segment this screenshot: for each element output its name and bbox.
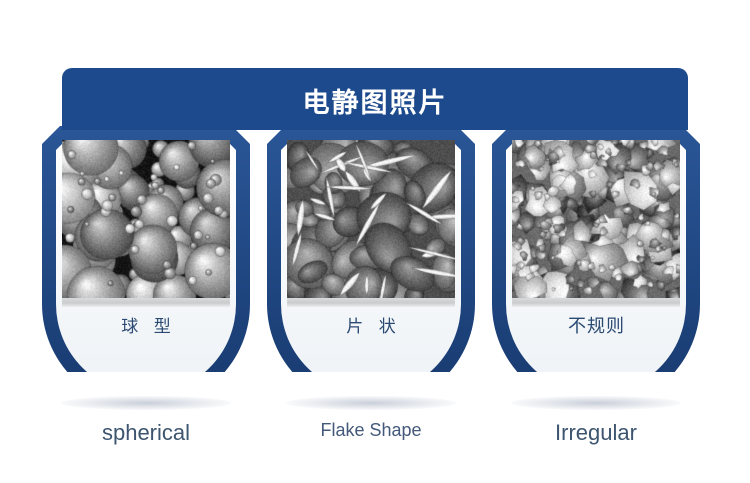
card-label-cn-flake: 片 状	[267, 312, 475, 337]
card-label-cn-irregular: 不规则	[492, 312, 700, 338]
card-label-cn-spherical: 球 型	[42, 312, 250, 337]
sem-photo-irregular	[512, 140, 680, 298]
caption-en-irregular: Irregular	[481, 420, 711, 446]
card-irregular[interactable]: 不规则	[492, 126, 700, 372]
photo-ledge	[287, 298, 455, 307]
caption-en-spherical: spherical	[31, 420, 261, 446]
card-spherical[interactable]: 球 型	[42, 126, 250, 372]
page-title: 电静图照片	[62, 81, 688, 120]
header-banner: 电静图照片	[62, 68, 688, 130]
infographic-stage: 电静图照片	[0, 0, 750, 483]
photo-ledge	[62, 298, 230, 307]
caption-en-flake: Flake Shape	[256, 420, 486, 441]
card-shadow-spherical	[61, 396, 231, 410]
sem-photo-spherical	[62, 140, 230, 298]
card-flake[interactable]: 片 状	[267, 126, 475, 372]
card-shadow-irregular	[511, 396, 681, 410]
photo-ledge	[512, 298, 680, 307]
card-shadow-flake	[286, 396, 456, 410]
sem-photo-flake	[287, 140, 455, 298]
